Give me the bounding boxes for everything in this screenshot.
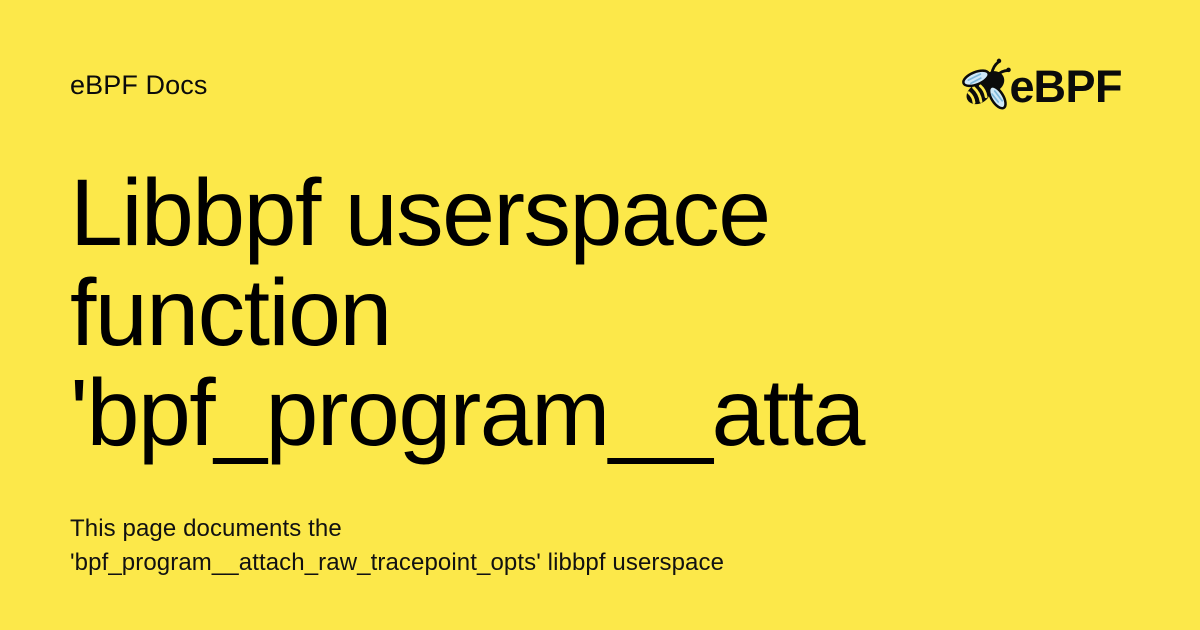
page-title: Libbpf userspace function 'bpf_program__… [70, 163, 1130, 463]
page-title-line-1: Libbpf userspace [70, 163, 1130, 263]
ebpf-bee-icon [957, 57, 1013, 113]
wordmark-prefix: e [1009, 61, 1033, 112]
site-name: eBPF Docs [70, 68, 207, 102]
page-title-line-3: 'bpf_program__atta [70, 363, 1130, 463]
ebpf-wordmark: eBPF [1009, 64, 1122, 109]
page-title-line-2: function [70, 263, 1130, 363]
card-header: eBPF Docs [0, 0, 1200, 140]
og-preview-card: eBPF Docs [0, 0, 1200, 630]
wordmark-suffix: BPF [1034, 61, 1123, 112]
page-description-line-2: 'bpf_program__attach_raw_tracepoint_opts… [70, 546, 1130, 580]
ebpf-logo: eBPF [957, 57, 1128, 113]
page-description: This page documents the 'bpf_program__at… [70, 512, 1130, 580]
page-description-line-1: This page documents the [70, 512, 1130, 546]
